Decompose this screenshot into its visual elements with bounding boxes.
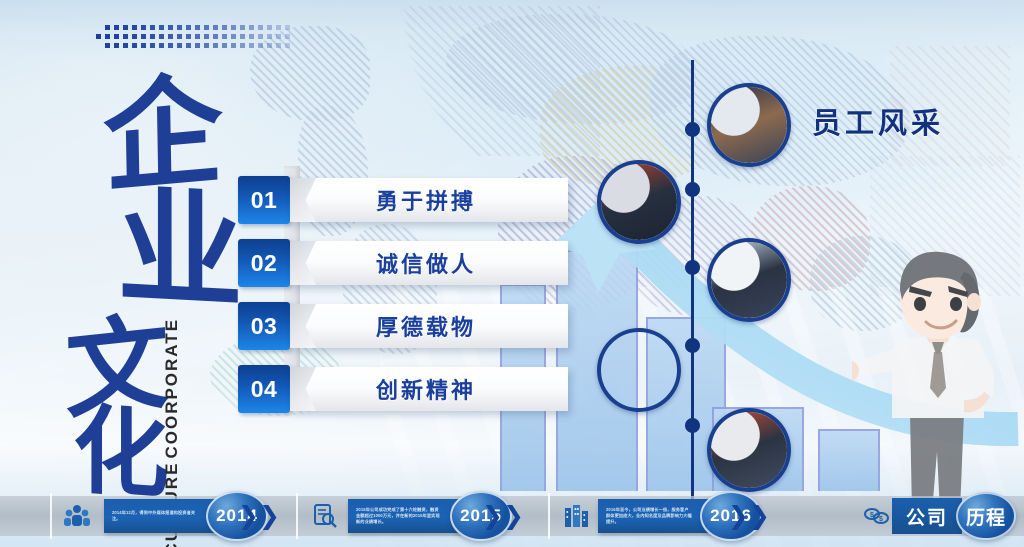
timeline-arrow-glyph: ❯ (482, 504, 500, 529)
timeline-node-dot (685, 182, 700, 197)
timeline-description: 2015年公司成功完成了第十六轮融资，融资金额超过1000万元，并在新的2015… (356, 507, 442, 526)
people-group-icon (62, 501, 92, 531)
value-plate[interactable]: 创新精神 (290, 367, 568, 411)
svg-text:$: $ (879, 516, 883, 523)
coins-icon: $ $ (862, 501, 892, 531)
timeline-node-dot (685, 260, 700, 275)
timeline-arrow: ❯❯ (482, 504, 521, 529)
company-history-timeline: 2014年12月，得到中外媒体报道和投资者关注。2014❯❯2015年公司成功完… (0, 485, 1024, 547)
timeline-milestone[interactable]: 2014年12月，得到中外媒体报道和投资者关注。2014 (104, 499, 246, 533)
photo-pointer (707, 269, 711, 291)
timeline-description: 2016年至今，公司业绩增长一倍，服务客户群体更加庞大，业内知名度及品牌影响力大… (606, 507, 692, 526)
timeline-arrow: ❯❯ (238, 504, 277, 529)
dot-grid-decoration (96, 25, 296, 51)
timeline-node-dot (685, 122, 700, 137)
value-plate[interactable]: 厚德载物 (290, 304, 568, 348)
photo-laptop-team[interactable] (707, 408, 791, 492)
value-number-badge[interactable]: 03 (238, 302, 290, 350)
value-number-badge[interactable]: 04 (238, 365, 290, 413)
timeline-milestone[interactable]: 2015年公司成功完成了第十六轮融资，融资金额超过1000万元，并在新的2015… (348, 499, 490, 533)
value-row[interactable]: 03厚德载物 (238, 302, 568, 364)
value-plate[interactable]: 勇于拼搏 (290, 178, 568, 222)
timeline-divider (296, 493, 298, 539)
timeline-end-label-2: 历程 (956, 492, 1016, 540)
timeline-node-dot (685, 418, 700, 433)
photo-two-colleagues[interactable] (597, 328, 681, 412)
value-row[interactable]: 01勇于拼搏 (238, 176, 568, 238)
value-row[interactable]: 02诚信做人 (238, 239, 568, 301)
timeline-node-dot (685, 338, 700, 353)
timeline-arrow-glyph: ❯ (503, 504, 521, 529)
value-label: 勇于拼搏 (376, 184, 476, 216)
value-label: 诚信做人 (376, 247, 476, 279)
timeline-divider (548, 493, 550, 539)
core-values-list: 01勇于拼搏02诚信做人03厚德载物04创新精神 (238, 176, 568, 428)
value-label: 创新精神 (376, 373, 476, 405)
timeline-milestone[interactable]: 2016年至今，公司业绩增长一倍，服务客户群体更加庞大，业内知名度及品牌影响力大… (598, 499, 740, 533)
timeline-arrow-glyph: ❯ (238, 504, 256, 529)
timeline-end-label: $ $ 公司 历程 (862, 496, 1016, 536)
photo-desk-discussion[interactable] (597, 160, 681, 244)
timeline-arrow: ❯❯ (728, 504, 767, 529)
section-heading: 员工风采 (812, 100, 944, 142)
value-number-badge[interactable]: 02 (238, 239, 290, 287)
timeline-description: 2014年12月，得到中外媒体报道和投资者关注。 (112, 510, 198, 523)
document-search-icon (310, 501, 340, 531)
timeline-arrow-glyph: ❯ (749, 504, 767, 529)
value-plate[interactable]: 诚信做人 (290, 241, 568, 285)
photo-coffee-meeting[interactable] (707, 83, 791, 167)
timeline-arrow-glyph: ❯ (259, 504, 277, 529)
building-icon (562, 501, 592, 531)
photo-pointer (707, 439, 711, 461)
timeline-arrow-glyph: ❯ (728, 504, 746, 529)
photo-boardroom[interactable] (707, 238, 791, 322)
slide-canvas: 企 业 文 化 CULTURE COORPORATE 01勇于拼搏02诚信做人0… (0, 0, 1024, 547)
value-number-badge[interactable]: 01 (238, 176, 290, 224)
timeline-divider (50, 493, 52, 539)
timeline-end-label-1: 公司 (892, 498, 962, 534)
value-row[interactable]: 04创新精神 (238, 365, 568, 427)
value-label: 厚德载物 (376, 310, 476, 342)
photo-pointer (707, 114, 711, 136)
